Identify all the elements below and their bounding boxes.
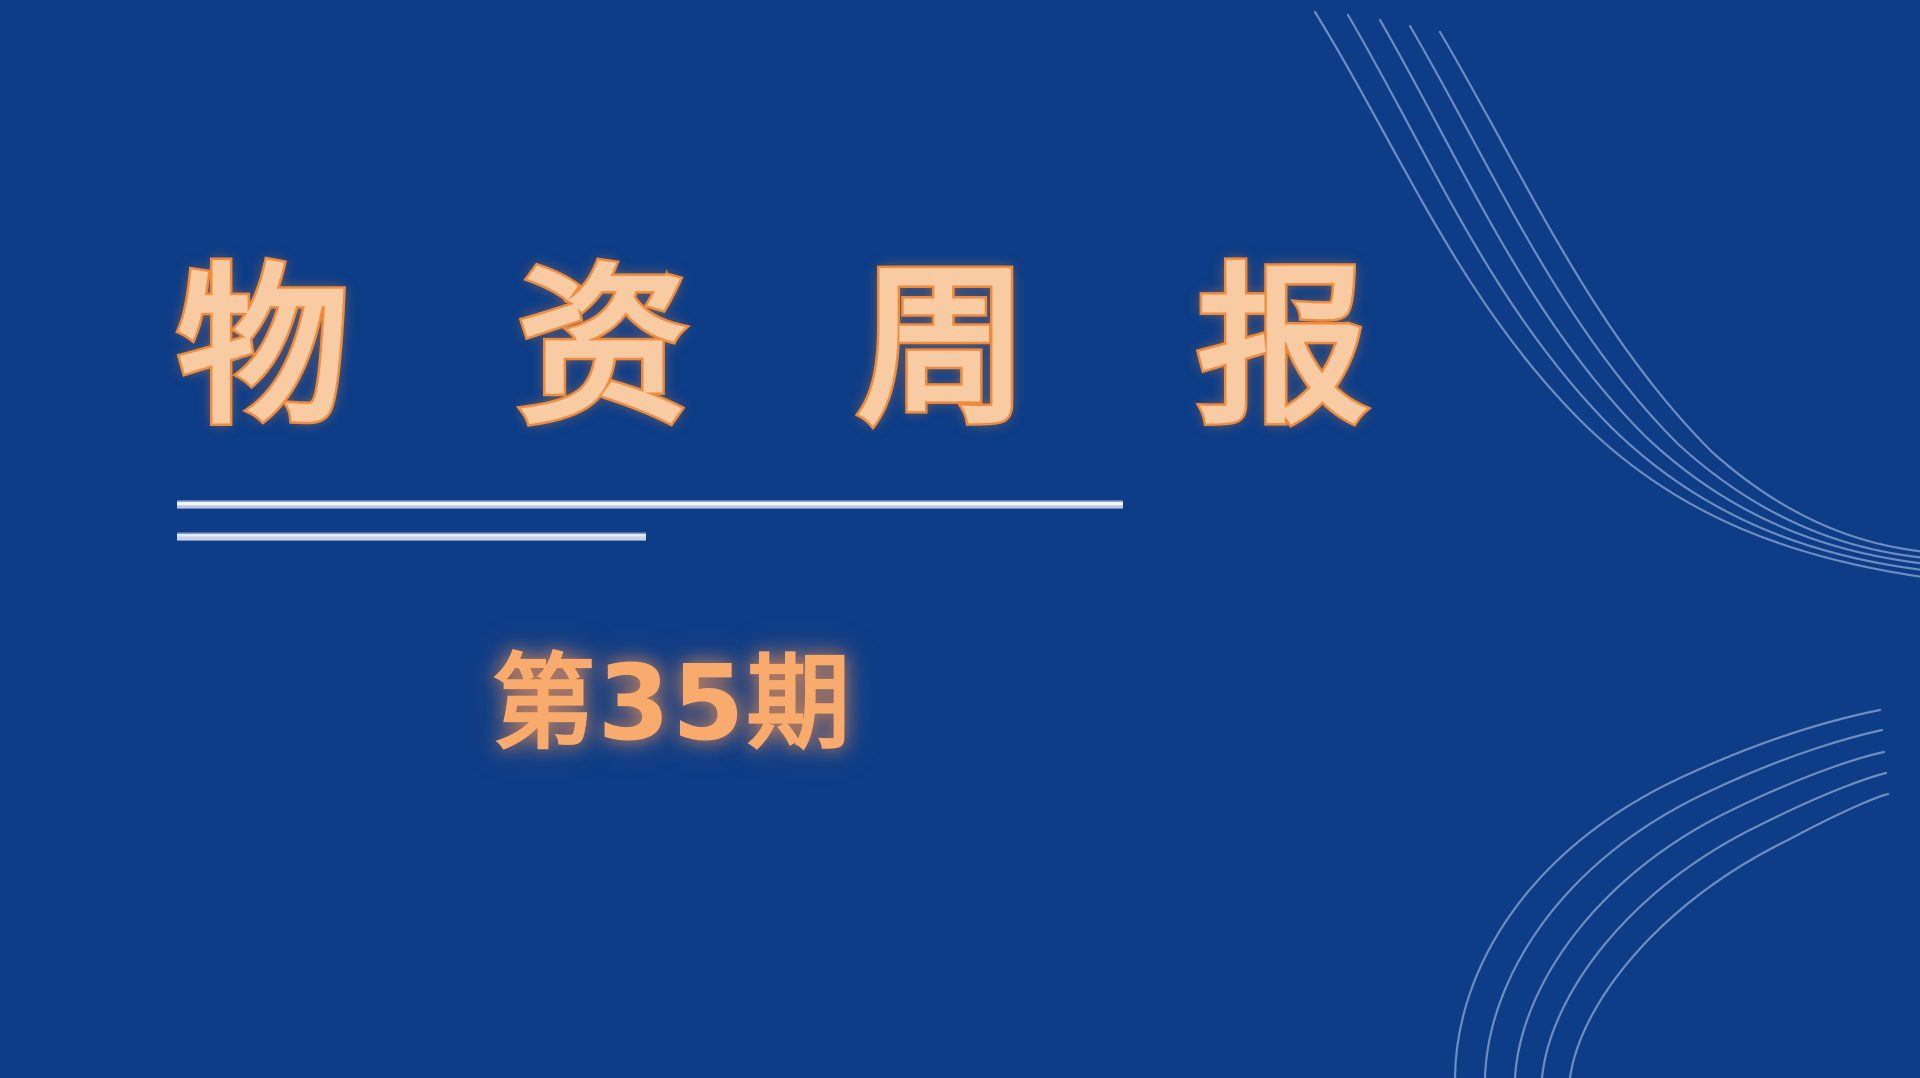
slide-canvas: 物 资 周 报 第35期 bbox=[0, 0, 1920, 1078]
title-underline-short bbox=[177, 532, 646, 541]
title-block: 物 资 周 报 bbox=[177, 258, 1177, 439]
page-title: 物 资 周 报 bbox=[177, 258, 1177, 439]
title-underline-long bbox=[177, 500, 1123, 509]
issue-subtitle: 第35期 bbox=[177, 646, 1167, 760]
